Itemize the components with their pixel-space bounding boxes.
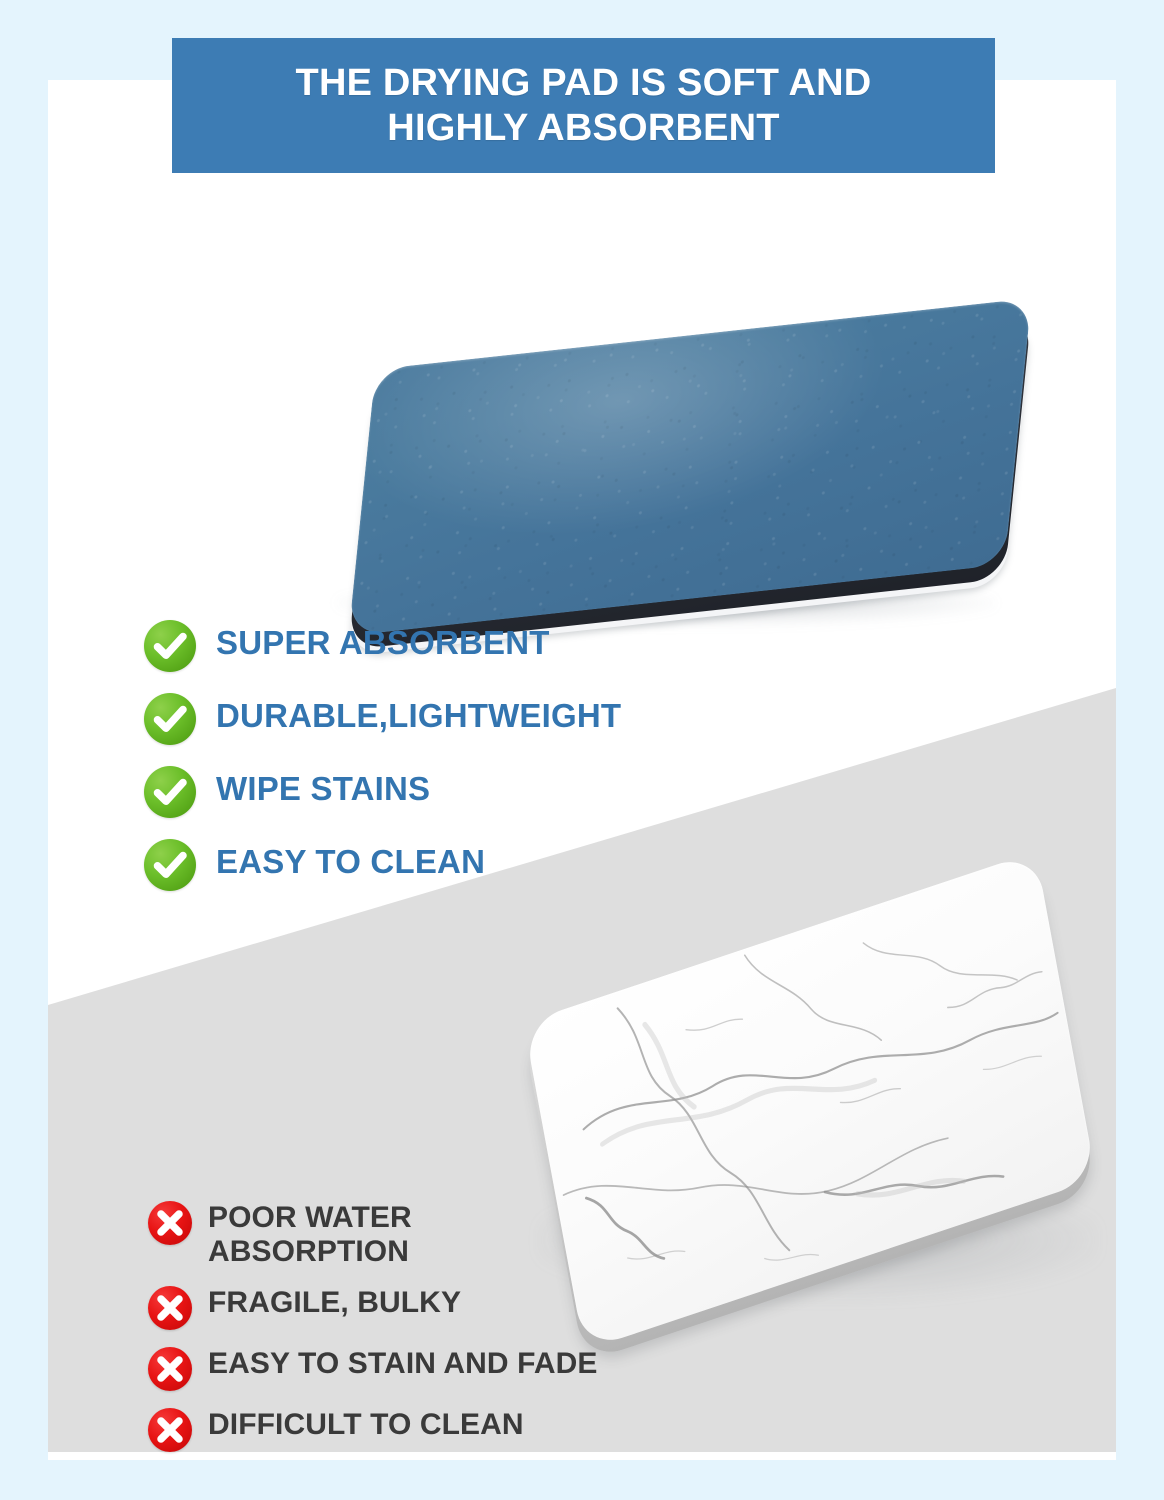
con-item-label: DIFFICULT TO CLEAN bbox=[208, 1405, 524, 1442]
cross-circle-icon bbox=[148, 1408, 192, 1452]
cross-circle-icon bbox=[148, 1201, 192, 1245]
pro-item-label: DURABLE,LIGHTWEIGHT bbox=[216, 691, 621, 735]
con-item: EASY TO STAIN AND FADE bbox=[148, 1344, 808, 1391]
pro-item-label: EASY TO CLEAN bbox=[216, 837, 485, 881]
content-card: SUPER ABSORBENT DURABLE,LIGHTWEIGHT WIPE… bbox=[48, 80, 1116, 1460]
con-item-label: EASY TO STAIN AND FADE bbox=[208, 1344, 597, 1381]
cons-list: POOR WATER ABSORPTION FRAGILE, BULKY EAS… bbox=[148, 1198, 808, 1460]
con-item: DIFFICULT TO CLEAN bbox=[148, 1405, 808, 1452]
pro-item: EASY TO CLEAN bbox=[144, 837, 784, 891]
con-item: FRAGILE, BULKY bbox=[148, 1283, 808, 1330]
con-item-label: POOR WATER ABSORPTION bbox=[208, 1198, 412, 1269]
check-circle-icon bbox=[144, 620, 196, 672]
pro-item-label: SUPER ABSORBENT bbox=[216, 618, 550, 662]
check-circle-icon bbox=[144, 766, 196, 818]
infographic-page: SUPER ABSORBENT DURABLE,LIGHTWEIGHT WIPE… bbox=[0, 0, 1164, 1500]
check-circle-icon bbox=[144, 839, 196, 891]
header-banner: THE DRYING PAD IS SOFT AND HIGHLY ABSORB… bbox=[172, 38, 995, 173]
con-item-label: FRAGILE, BULKY bbox=[208, 1283, 461, 1320]
pros-list: SUPER ABSORBENT DURABLE,LIGHTWEIGHT WIPE… bbox=[144, 618, 784, 910]
pro-item: WIPE STAINS bbox=[144, 764, 784, 818]
pro-item: DURABLE,LIGHTWEIGHT bbox=[144, 691, 784, 745]
pro-item: SUPER ABSORBENT bbox=[144, 618, 784, 672]
pro-item-label: WIPE STAINS bbox=[216, 764, 430, 808]
con-item: POOR WATER ABSORPTION bbox=[148, 1198, 808, 1269]
check-circle-icon bbox=[144, 693, 196, 745]
blue-drying-pad-image bbox=[314, 280, 1054, 660]
banner-title: THE DRYING PAD IS SOFT AND HIGHLY ABSORB… bbox=[296, 61, 872, 150]
cross-circle-icon bbox=[148, 1286, 192, 1330]
cross-circle-icon bbox=[148, 1347, 192, 1391]
